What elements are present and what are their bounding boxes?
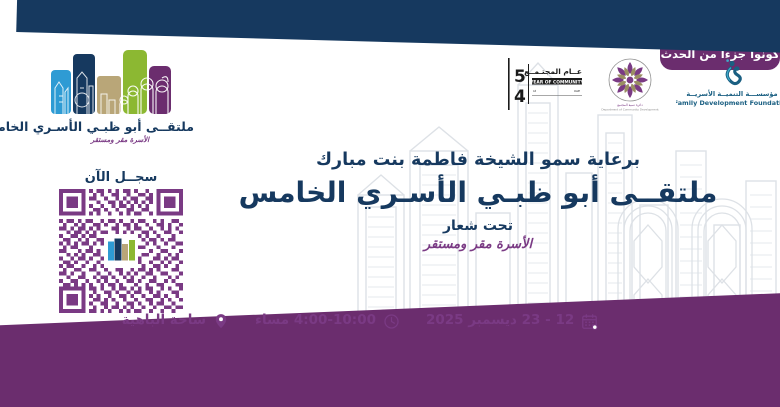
event-banner: كونوا جزءاً من الحدث bbox=[0, 0, 780, 407]
info-item-date: 12 - 23 ديسمبر 2025 bbox=[426, 313, 598, 330]
rosette-label-ar: دائرة تنمية المجتمع bbox=[617, 103, 643, 107]
info-item-location: ساحة الباهية bbox=[122, 312, 229, 330]
slogan-intro: تحت شعار bbox=[198, 218, 758, 234]
fdf-label-en: Family Development Foundation bbox=[676, 99, 780, 107]
event-logo-tagline: الأسرة مقر ومستقر bbox=[46, 136, 194, 144]
register-label: سجــل الآن bbox=[48, 170, 194, 185]
sponsor-logos: 5 4 عــام المجتـمــع YEAR OF COMMUNITY ٥… bbox=[508, 56, 780, 112]
year-of-community-logo: 5 4 عــام المجتـمــع YEAR OF COMMUNITY ٥… bbox=[508, 58, 584, 110]
abu-dhabi-family-forum-logo-mark bbox=[49, 48, 191, 114]
headline-block: برعاية سمو الشيخة فاطمة بنت مبارك ملتقــ… bbox=[198, 150, 758, 252]
registration-qr-code[interactable] bbox=[59, 189, 183, 313]
info-date-text: 12 - 23 ديسمبر 2025 bbox=[426, 314, 574, 328]
sponsor-community-development: دائرة تنمية المجتمع Department of Commun… bbox=[598, 56, 662, 112]
info-location-text: ساحة الباهية bbox=[122, 314, 206, 328]
family-development-foundation-logo: مؤسســـة التنميــة الأسريــة Family Deve… bbox=[676, 56, 780, 112]
year-number-bottom: 4 bbox=[514, 87, 526, 107]
year-label-ar: عــام المجتـمــع bbox=[524, 67, 582, 76]
abu-dhabi-rosette-emblem: دائرة تنمية المجتمع Department of Commun… bbox=[598, 56, 662, 112]
sponsor-year-of-community: 5 4 عــام المجتـمــع YEAR OF COMMUNITY ٥… bbox=[508, 58, 584, 110]
rosette-label-en: Department of Community Development bbox=[601, 107, 659, 111]
event-logo: ملتقــى أبو ظبـي الأسـري الخامس الأسرة م… bbox=[46, 48, 194, 144]
svg-text:UAE: UAE bbox=[574, 89, 580, 93]
patronage-line: برعاية سمو الشيخة فاطمة بنت مبارك bbox=[198, 150, 758, 170]
fdf-label-ar: مؤسســـة التنميــة الأسريــة bbox=[686, 89, 777, 98]
slogan-text: الأسرة مقر ومستقر bbox=[198, 237, 758, 252]
event-title: ملتقــى أبو ظبـي الأسـري الخامس bbox=[198, 176, 758, 209]
location-pin-icon bbox=[213, 312, 229, 330]
calendar-icon bbox=[581, 313, 598, 330]
info-item-time: 4:00-10:00 مساء bbox=[255, 313, 400, 330]
event-info-bar: 12 - 23 ديسمبر 2025 4:00-10:00 مساء ساحة… bbox=[0, 312, 780, 330]
year-label-en: YEAR OF COMMUNITY bbox=[529, 79, 584, 85]
clock-icon bbox=[383, 313, 400, 330]
event-logo-title: ملتقــى أبو ظبـي الأسـري الخامس bbox=[46, 119, 194, 134]
svg-text:٥٤: ٥٤ bbox=[533, 89, 537, 93]
register-block[interactable]: سجــل الآن bbox=[48, 170, 194, 313]
sponsor-family-development-foundation: مؤسســـة التنميــة الأسريــة Family Deve… bbox=[676, 56, 780, 112]
info-time-text: 4:00-10:00 مساء bbox=[255, 314, 376, 328]
